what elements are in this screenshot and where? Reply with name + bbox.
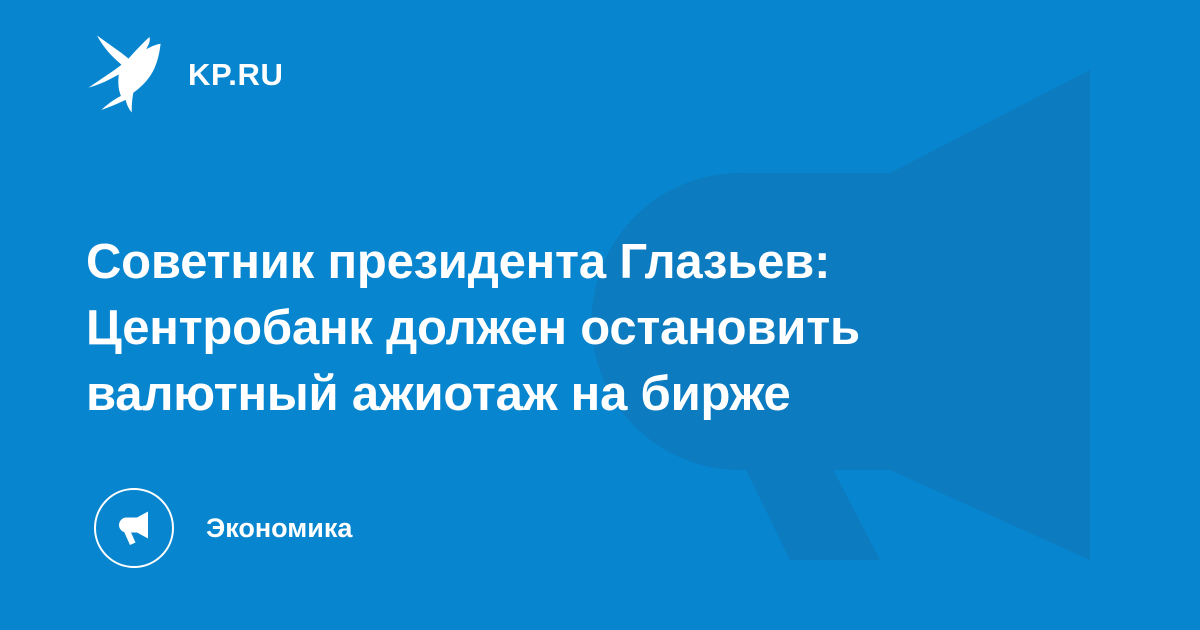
page-title: Советник президента Глазьев: Центробанк … [86,229,1046,427]
category-label: Экономика [206,515,352,542]
megaphone-icon [112,506,156,550]
brand-logo[interactable]: KP.RU [88,34,283,114]
article-share-card: KP.RU Советник президента Глазьев: Центр… [0,0,1200,630]
brand-name-label: KP.RU [188,59,283,90]
swallow-bird-icon [88,35,162,113]
headline-line-2: Центробанк должен остановить [86,295,1046,361]
headline-line-3: валютный ажиотаж на бирже [86,361,1046,427]
category-icon-circle [94,488,174,568]
category-badge[interactable]: Экономика [94,488,352,568]
headline-line-1: Советник президента Глазьев: [86,229,1046,295]
